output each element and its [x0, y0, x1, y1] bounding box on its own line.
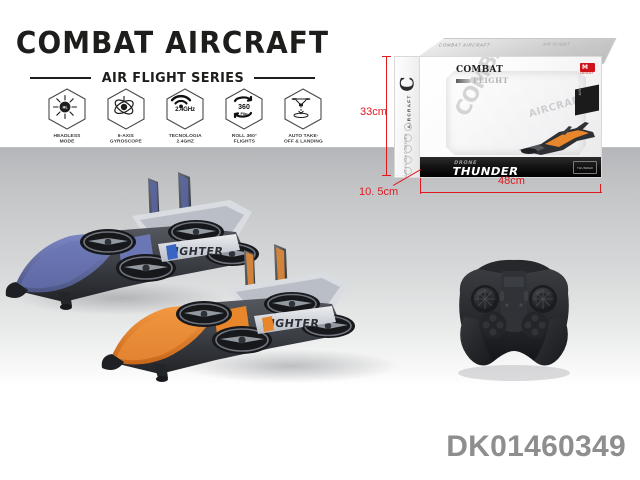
wifi-signal-icon: 2.4GHz — [170, 94, 200, 124]
dim-width-cap-right — [600, 184, 601, 193]
hex-frame: 360 Flip — [225, 88, 263, 130]
feature-icon-row: HL HEADLESS MODE — [40, 88, 330, 146]
logo-mark-text: M — [582, 64, 588, 71]
feature-gyroscope: 6-AXIS GYROSCOPE — [99, 88, 153, 146]
feature-label: AUTO TAKE- OFF & LANDING — [284, 133, 323, 144]
product-photo-group: FIGHTER — [0, 170, 440, 386]
product-sheet: COMBAT AIRCRAFT AIR FLIGHT SERIES — [0, 0, 640, 480]
accent-right — [524, 291, 528, 301]
roll-360-flip-icon: 360 Flip — [229, 94, 259, 124]
sku-code: DK01460349 — [446, 430, 626, 464]
dim-height-cap-top — [382, 56, 391, 57]
box-brand-lockup: COMBAT FLIGHT — [456, 65, 509, 85]
accent-left — [500, 291, 504, 301]
hex-frame — [107, 88, 145, 130]
flip-count-text: 360 — [238, 104, 250, 111]
feature-headless-mode: HL HEADLESS MODE — [40, 88, 94, 146]
page-subtitle: AIR FLIGHT SERIES — [101, 70, 243, 86]
box-brand-main: COMBAT — [456, 65, 509, 75]
hex-frame: HL — [48, 88, 86, 130]
feature-auto-takeoff-landing: AUTO TAKE- OFF & LANDING — [276, 88, 330, 146]
box-band-badge: THUNDER — [573, 161, 597, 174]
button-down-left — [489, 328, 496, 335]
brand-bar-accent — [456, 79, 470, 83]
auto-takeoff-landing-icon — [288, 94, 318, 124]
button-left-right — [524, 321, 531, 328]
shadow-controller — [458, 365, 570, 381]
box-brand-sub: FLIGHT — [473, 76, 509, 85]
feature-label: ROLL 360° FLIGHTS — [231, 133, 256, 144]
rule-left — [30, 77, 91, 79]
button-down-right — [531, 328, 538, 335]
flip-word-text: Flip — [240, 111, 247, 116]
box-dark-strip-text: AIR FLIGHT — [578, 72, 582, 96]
button-up-left — [489, 314, 496, 321]
header-block: COMBAT AIRCRAFT AIR FLIGHT SERIES — [0, 0, 345, 150]
gyroscope-icon — [111, 94, 141, 124]
dim-width-label: 48cm — [498, 175, 525, 187]
feature-24ghz: 2.4GHz TECNOLOGIA 2.4GHZ — [158, 88, 212, 146]
box-side-panel: C AIRCRAFT AIR FLIGHT SERIES — [394, 56, 420, 178]
rule-right — [254, 77, 315, 79]
box-dark-strip: AIR FLIGHT — [575, 84, 599, 115]
feature-360-flip: 360 Flip ROLL 360° FLIGHTS — [217, 88, 271, 146]
button-up-right — [531, 314, 538, 321]
box-top-text-right: AIR FLIGHT — [542, 42, 572, 47]
button-left-left — [482, 321, 489, 328]
hex-frame — [284, 88, 322, 130]
dim-width-line — [420, 192, 602, 193]
manufacturer-logo: M AIRCRAFT — [580, 63, 595, 76]
page-title: COMBAT AIRCRAFT — [12, 26, 333, 61]
hex-frame: 2.4GHz — [166, 88, 204, 130]
headless-mode-icon: HL — [52, 94, 82, 124]
button-right-left — [496, 321, 503, 328]
logo-sub-text: AIRCRAFT — [580, 72, 594, 75]
remote-controller — [448, 255, 580, 383]
package-box: COMBAT AIRCRAFT AIR FLIGHT C AIRCRAFT AI… — [394, 38, 602, 180]
box-band-badge-text: THUNDER — [577, 166, 593, 170]
dim-height-label: 33cm — [360, 106, 387, 118]
feature-label: TECNOLOGIA 2.4GHZ — [168, 133, 201, 144]
box-top-text: COMBAT AIRCRAFT — [438, 43, 492, 48]
led-left — [505, 303, 508, 306]
controller-center-badge — [504, 277, 524, 287]
feature-label: HEADLESS MODE — [54, 133, 81, 144]
box-brand-sub-row: FLIGHT — [456, 76, 509, 85]
box-bottom-band: DRONE THUNDER THUNDER — [420, 157, 602, 177]
box-front-panel: COMBAT AIRCRAFT COMBAT FLIGHT M AIRCRAFT… — [419, 56, 602, 178]
subtitle-row: AIR FLIGHT SERIES — [30, 70, 315, 86]
button-right-right — [538, 321, 545, 328]
svg-text:HL: HL — [63, 106, 69, 110]
feature-label: 6-AXIS GYROSCOPE — [110, 133, 142, 144]
led-right — [519, 303, 522, 306]
box-jet-artwork — [515, 120, 599, 160]
